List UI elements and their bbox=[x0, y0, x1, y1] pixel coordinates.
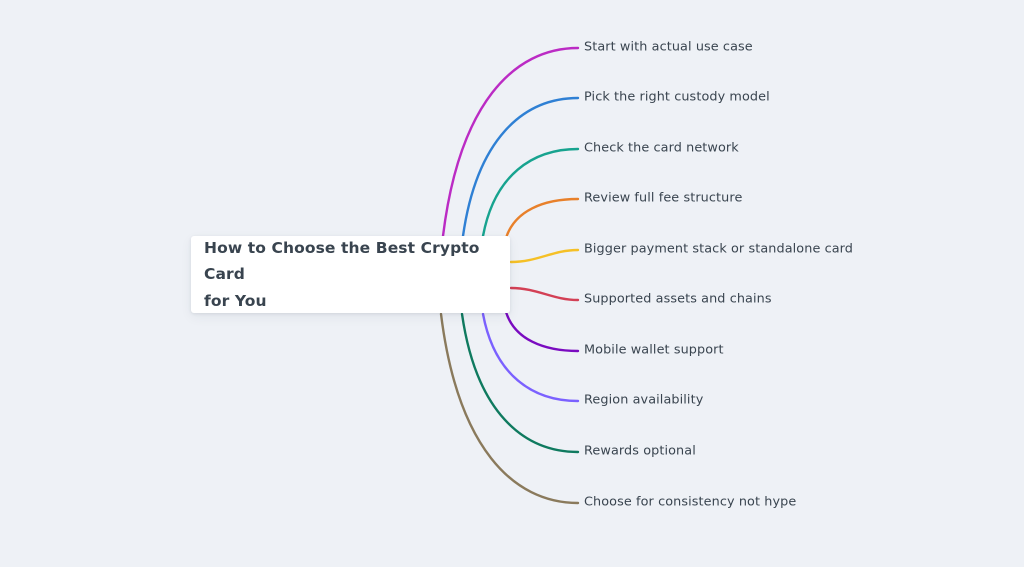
branch-curve bbox=[462, 314, 578, 452]
branch-label[interactable]: Mobile wallet support bbox=[584, 345, 724, 358]
central-topic-card[interactable]: How to Choose the Best Crypto Card for Y… bbox=[191, 236, 510, 313]
branch-curve bbox=[441, 314, 578, 503]
mind-map-canvas: How to Choose the Best Crypto Card for Y… bbox=[0, 0, 1024, 567]
branch-label[interactable]: Rewards optional bbox=[584, 446, 696, 459]
branch-label[interactable]: Bigger payment stack or standalone card bbox=[584, 244, 853, 257]
branch-label[interactable]: Check the card network bbox=[584, 143, 739, 156]
branch-curve bbox=[511, 288, 578, 300]
branch-label[interactable]: Choose for consistency not hype bbox=[584, 497, 796, 510]
branch-curve bbox=[483, 149, 578, 236]
branch-curve bbox=[511, 250, 578, 262]
central-topic-label: How to Choose the Best Crypto Card for Y… bbox=[191, 235, 510, 313]
branch-curve bbox=[483, 314, 578, 401]
branch-label[interactable]: Review full fee structure bbox=[584, 193, 742, 206]
branch-label[interactable]: Pick the right custody model bbox=[584, 92, 770, 105]
branch-curve bbox=[506, 312, 578, 351]
branch-curve bbox=[506, 199, 578, 238]
branch-curve-layer bbox=[0, 0, 1024, 567]
branch-curve bbox=[443, 48, 578, 236]
branch-label[interactable]: Supported assets and chains bbox=[584, 294, 772, 307]
branch-curve bbox=[463, 98, 578, 236]
branch-label[interactable]: Start with actual use case bbox=[584, 42, 753, 55]
branch-label[interactable]: Region availability bbox=[584, 395, 703, 408]
